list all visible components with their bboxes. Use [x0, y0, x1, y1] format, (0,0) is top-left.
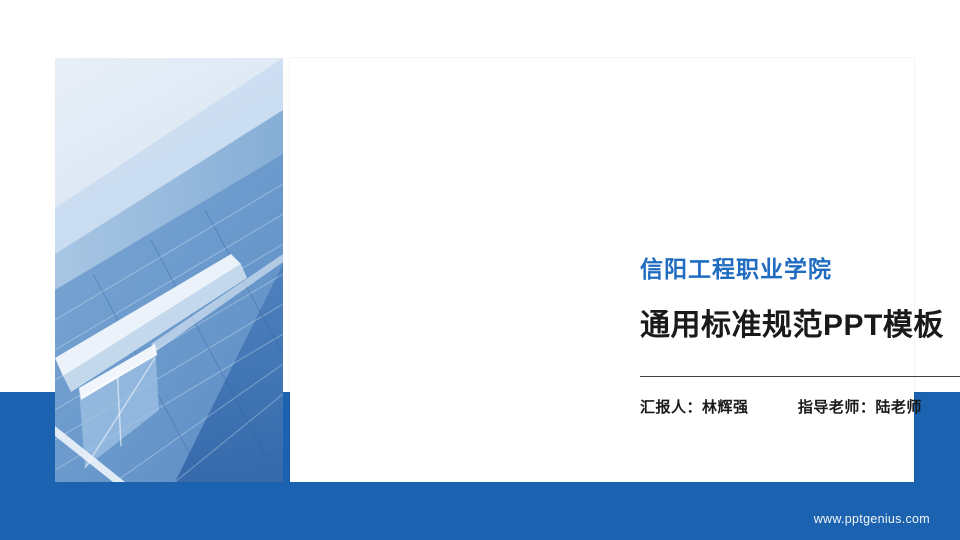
presenter-label: 汇报人：林辉强 [640, 399, 749, 416]
footer-url[interactable]: www.pptgenius.com [814, 512, 930, 526]
title-block: 信阳工程职业学院 通用标准规范PPT模板 [640, 254, 960, 346]
page-title: 通用标准规范PPT模板 [640, 306, 960, 346]
title-card: 信阳工程职业学院 通用标准规范PPT模板 汇报人：林辉强 指导老师：陆老师 [290, 58, 914, 482]
advisor-label: 指导老师：陆老师 [798, 399, 922, 416]
photo-artwork [55, 58, 283, 482]
architecture-photo [55, 58, 283, 482]
presentation-slide: 信阳工程职业学院 通用标准规范PPT模板 汇报人：林辉强 指导老师：陆老师 ww… [0, 0, 960, 540]
meta-line: 汇报人：林辉强 指导老师：陆老师 [640, 396, 960, 417]
university-name: 信阳工程职业学院 [640, 254, 960, 284]
divider [640, 376, 960, 377]
